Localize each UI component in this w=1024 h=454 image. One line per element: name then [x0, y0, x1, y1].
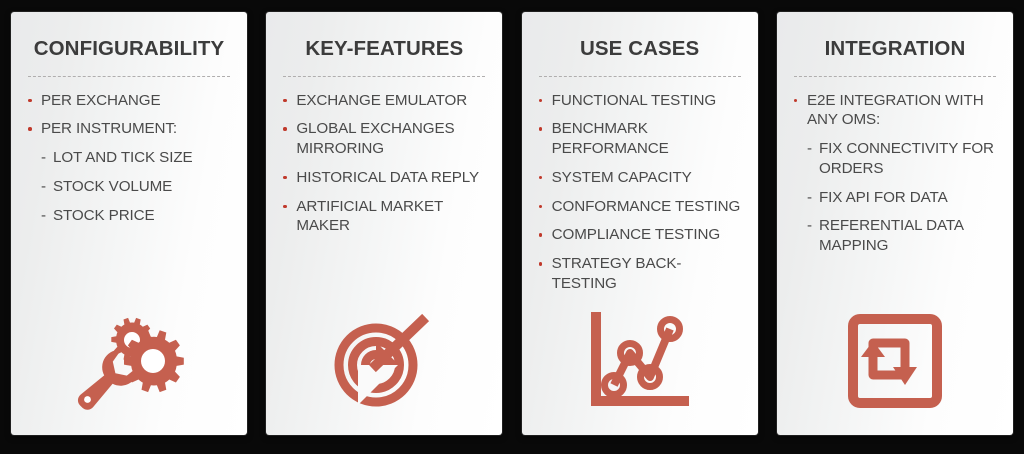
feature-list: EXCHANGE EMULATORGLOBAL EXCHANGES MIRROR… — [281, 91, 487, 237]
list-item: PER EXCHANGE — [26, 91, 232, 111]
feature-cards-board: CONFIGURABILITYPER EXCHANGEPER INSTRUMEN… — [0, 0, 1024, 454]
feature-card: INTEGRATIONE2E INTEGRATION WITH ANY OMS:… — [777, 12, 1013, 435]
target-with-arrow-icon — [266, 309, 502, 413]
sync-arrows-square-icon — [777, 309, 1013, 413]
card-title: CONFIGURABILITY — [26, 38, 232, 61]
dotted-divider — [539, 75, 741, 77]
list-sub-item: REFERENTIAL DATA MAPPING — [792, 216, 998, 256]
wrench-and-gears-icon — [11, 309, 247, 413]
list-sub-item: STOCK VOLUME — [26, 177, 232, 197]
list-sub-item: FIX CONNECTIVITY FOR ORDERS — [792, 139, 998, 179]
line-chart-icon — [522, 309, 758, 413]
list-item: GLOBAL EXCHANGES MIRRORING — [281, 119, 487, 159]
list-sub-item: LOT AND TICK SIZE — [26, 148, 232, 168]
feature-list: PER EXCHANGEPER INSTRUMENT:LOT AND TICK … — [26, 91, 232, 226]
feature-card: KEY-FEATURESEXCHANGE EMULATORGLOBAL EXCH… — [266, 12, 502, 435]
list-item: CONFORMANCE TESTING — [537, 197, 743, 217]
feature-list: E2E INTEGRATION WITH ANY OMS:FIX CONNECT… — [792, 91, 998, 256]
list-item: PER INSTRUMENT: — [26, 119, 232, 139]
list-item: COMPLIANCE TESTING — [537, 225, 743, 245]
list-sub-item: FIX API FOR DATA — [792, 188, 998, 208]
list-item: E2E INTEGRATION WITH ANY OMS: — [792, 91, 998, 131]
list-item: HISTORICAL DATA REPLY — [281, 168, 487, 188]
list-item: STRATEGY BACK-TESTING — [537, 254, 743, 294]
list-item: BENCHMARK PERFORMANCE — [537, 119, 743, 159]
card-title: KEY-FEATURES — [281, 38, 487, 61]
dotted-divider — [794, 75, 996, 77]
feature-card: USE CASESFUNCTIONAL TESTINGBENCHMARK PER… — [522, 12, 758, 435]
feature-card: CONFIGURABILITYPER EXCHANGEPER INSTRUMEN… — [11, 12, 247, 435]
list-item: EXCHANGE EMULATOR — [281, 91, 487, 111]
list-item: FUNCTIONAL TESTING — [537, 91, 743, 111]
dotted-divider — [28, 75, 230, 77]
card-title: INTEGRATION — [792, 38, 998, 61]
list-sub-item: STOCK PRICE — [26, 206, 232, 226]
list-item: SYSTEM CAPACITY — [537, 168, 743, 188]
list-item: ARTIFICIAL MARKET MAKER — [281, 197, 487, 237]
card-title: USE CASES — [537, 38, 743, 61]
dotted-divider — [283, 75, 485, 77]
feature-list: FUNCTIONAL TESTINGBENCHMARK PERFORMANCES… — [537, 91, 743, 294]
